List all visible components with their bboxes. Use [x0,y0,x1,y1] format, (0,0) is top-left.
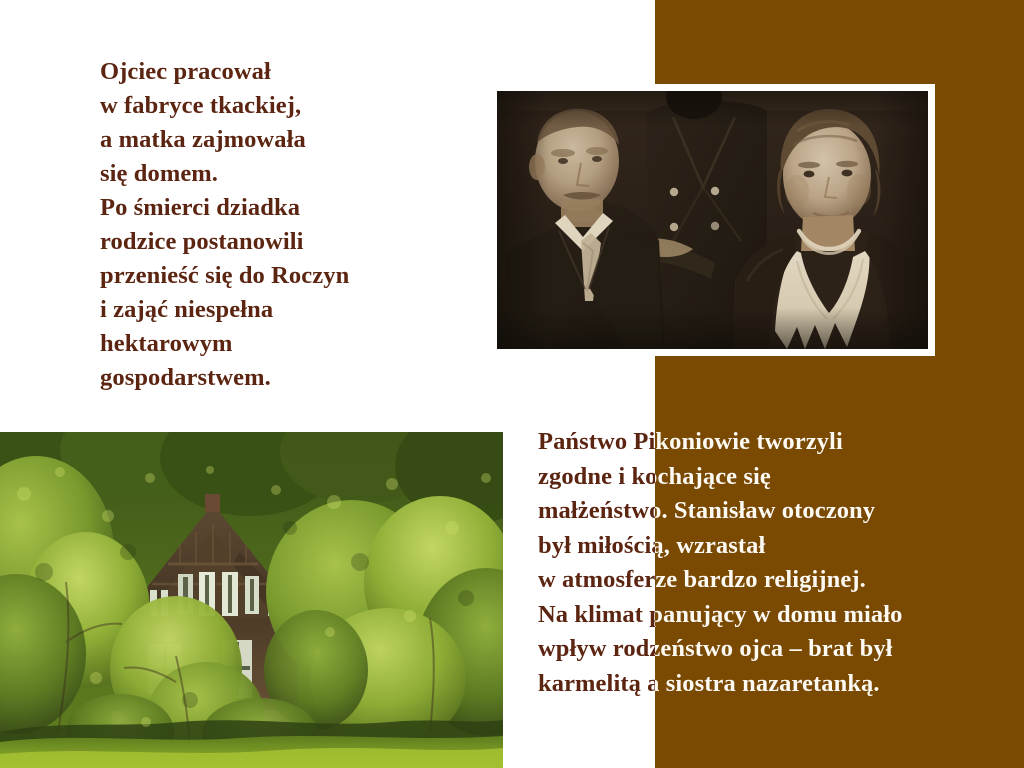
slide-canvas: Ojciec pracował w fabryce tkackiej, a ma… [0,0,1024,768]
couple-photo-image [497,91,928,349]
vintage-couple-portrait-icon [497,91,928,349]
paragraph-bottom-right: Państwo Pikoniowie tworzyli zgodne i koc… [538,425,1008,705]
couple-photo-frame [490,84,935,356]
paragraph-top-left: Ojciec pracował w fabryce tkackiej, a ma… [100,55,500,395]
landscape-photo-image [0,432,503,768]
wooden-house-in-green-trees-icon [0,432,503,768]
